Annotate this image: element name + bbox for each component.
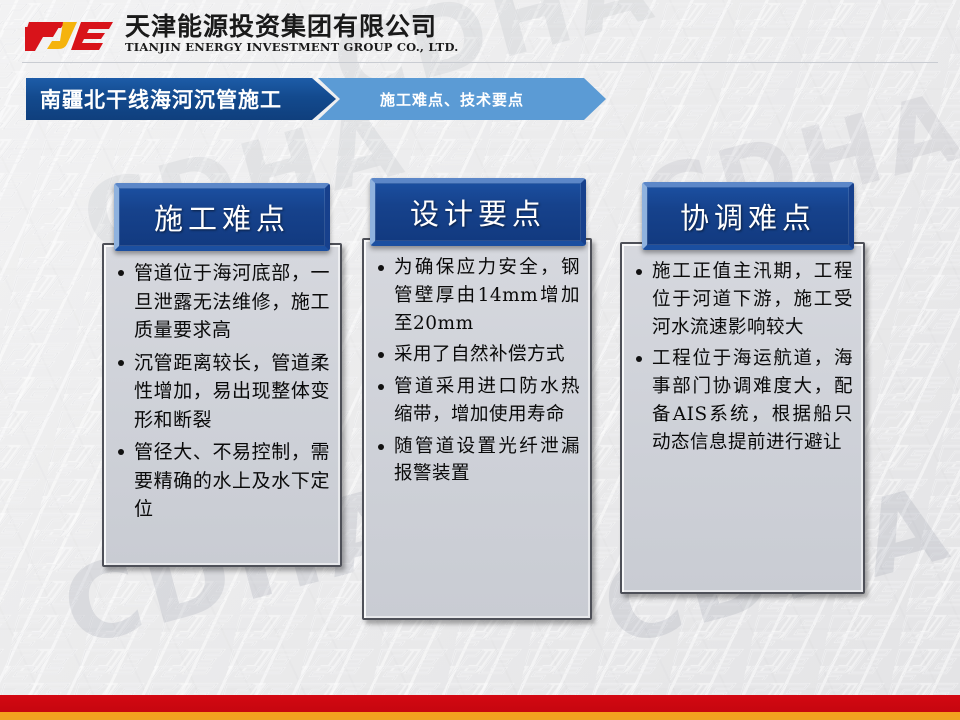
column-caption-box: 协调难点: [642, 182, 854, 250]
list-item: 施工正值主汛期，工程位于河道下游，施工受河水流速影响较大: [634, 258, 853, 341]
list-item: 沉管距离较长，管道柔性增加，易出现整体变形和断裂: [116, 349, 330, 435]
list-item: 工程位于海运航道，海事部门协调难度大，配备AIS系统，根据船只动态信息提前进行避…: [634, 345, 853, 456]
footer-red-bar: [0, 695, 960, 712]
column-caption-box: 设计要点: [370, 178, 586, 246]
column-design-points: 设计要点 为确保应力安全，钢管壁厚由14mm增加至20mm 采用了自然补偿方式 …: [362, 178, 592, 620]
column-body-box: 施工正值主汛期，工程位于河道下游，施工受河水流速影响较大 工程位于海运航道，海事…: [620, 242, 865, 594]
column-caption-box: 施工难点: [114, 183, 330, 251]
column-construction-difficulties: 施工难点 管道位于海河底部，一旦泄露无法维修，施工质量要求高 沉管距离较长，管道…: [102, 183, 342, 567]
list-item: 随管道设置光纤泄漏报警装置: [376, 433, 580, 489]
content-columns: 施工难点 管道位于海河底部，一旦泄露无法维修，施工质量要求高 沉管距离较长，管道…: [0, 0, 960, 720]
column-body-box: 为确保应力安全，钢管壁厚由14mm增加至20mm 采用了自然补偿方式 管道采用进…: [362, 238, 592, 620]
column-caption-label: 协调难点: [680, 195, 816, 237]
list-item: 管道采用进口防水热缩带，增加使用寿命: [376, 373, 580, 429]
column-body-box: 管道位于海河底部，一旦泄露无法维修，施工质量要求高 沉管距离较长，管道柔性增加，…: [102, 243, 342, 567]
footer-orange-bar: [0, 712, 960, 720]
list-item: 管径大、不易控制，需要精确的水上及水下定位: [116, 438, 330, 524]
bullet-list: 施工正值主汛期，工程位于河道下游，施工受河水流速影响较大 工程位于海运航道，海事…: [634, 258, 853, 456]
column-caption-label: 施工难点: [154, 196, 290, 238]
bullet-list: 为确保应力安全，钢管壁厚由14mm增加至20mm 采用了自然补偿方式 管道采用进…: [376, 254, 580, 488]
column-caption-label: 设计要点: [410, 191, 546, 233]
list-item: 采用了自然补偿方式: [376, 341, 580, 369]
list-item: 管道位于海河底部，一旦泄露无法维修，施工质量要求高: [116, 259, 330, 345]
column-coordination-difficulties: 协调难点 施工正值主汛期，工程位于河道下游，施工受河水流速影响较大 工程位于海运…: [620, 182, 865, 594]
bullet-list: 管道位于海河底部，一旦泄露无法维修，施工质量要求高 沉管距离较长，管道柔性增加，…: [116, 259, 330, 524]
slide-canvas: CDHA CDHA CDHA CDHA CDHA 天津能源投资集团有限公司 TI…: [0, 0, 960, 720]
list-item: 为确保应力安全，钢管壁厚由14mm增加至20mm: [376, 254, 580, 337]
